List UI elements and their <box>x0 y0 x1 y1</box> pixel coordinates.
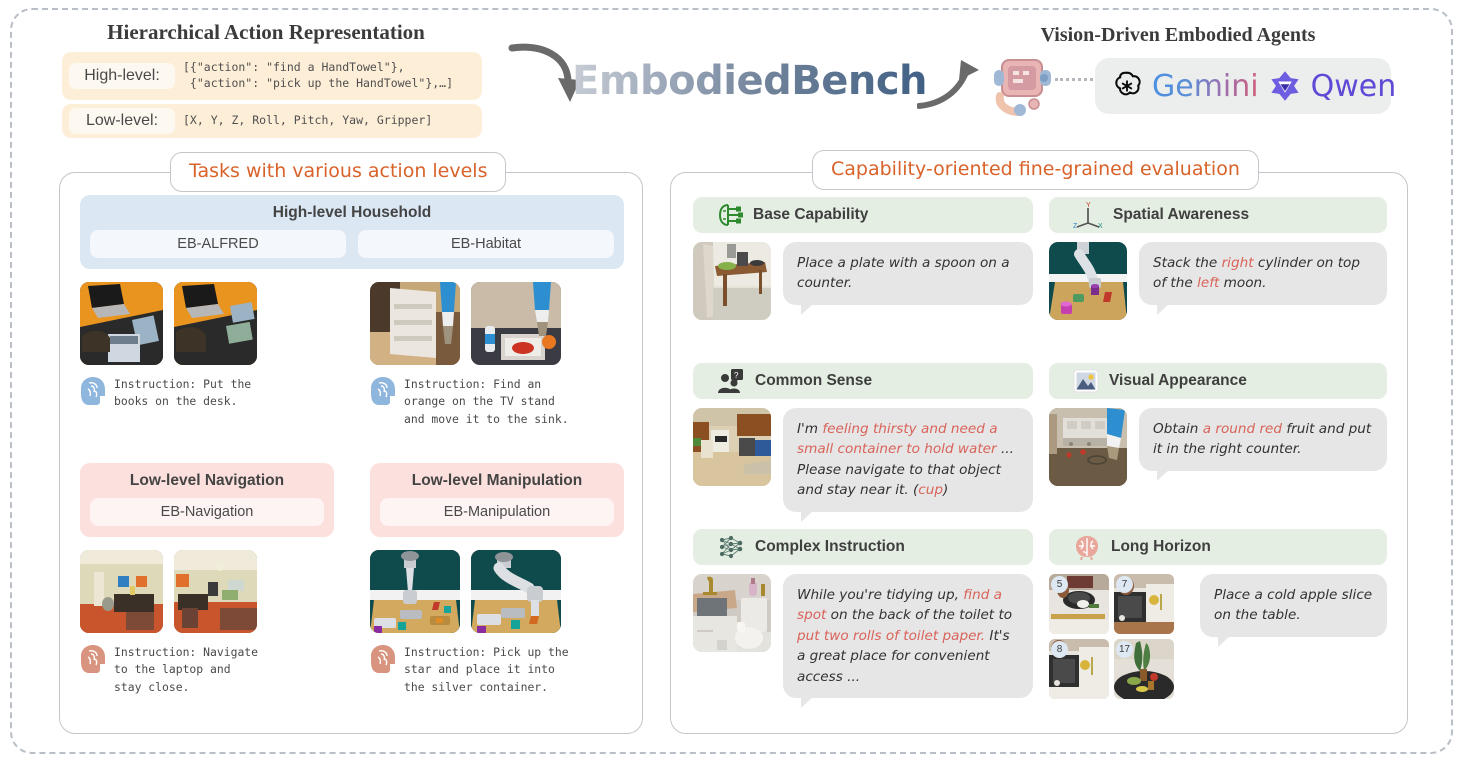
example-eb-manipulation: Low-level Manipulation EB-Manipulation <box>370 463 624 696</box>
neural-net-icon <box>717 534 745 560</box>
habitat-frame-2 <box>471 282 561 365</box>
spatial-awareness-label: Spatial Awareness <box>1113 206 1249 224</box>
qwen-logo-icon <box>1268 69 1302 103</box>
common-sense-bubble: I'm feeling thirsty and need a small con… <box>783 408 1033 512</box>
low-level-code: [X, Y, Z, Roll, Pitch, Yaw, Gripper] <box>183 113 432 129</box>
top-banner: Hierarchical Action Representation High-… <box>12 10 1451 138</box>
long-horizon-frame: 17 <box>1114 639 1174 699</box>
navigation-chip-row: EB-Navigation <box>90 498 324 526</box>
long-horizon-body: 5 <box>1049 574 1387 699</box>
long-horizon-frames: 5 <box>1049 574 1174 699</box>
low-level-action-box: Low-level: [X, Y, Z, Roll, Pitch, Yaw, G… <box>62 104 482 138</box>
complex-instruction-label: Complex Instruction <box>755 538 905 556</box>
habitat-thumbnails <box>370 282 624 365</box>
brain-icon <box>1073 534 1101 560</box>
spatial-awareness-header: Y Z X Spatial Awareness <box>1049 197 1387 233</box>
picture-icon <box>1073 368 1099 394</box>
manipulation-instruction-text: Instruction: Pick up the star and place … <box>404 644 569 696</box>
svg-text:Y: Y <box>1086 202 1091 209</box>
high-level-benchmark-chips: EB-ALFRED EB-Habitat <box>90 230 614 258</box>
bubble-text: Place a plate with a spoon on a counter. <box>797 255 1010 291</box>
example-eb-navigation: Low-level Navigation EB-Navigation <box>80 463 334 696</box>
brain-head-icon-red <box>370 644 396 674</box>
base-capability-bubble: Place a plate with a spoon on a counter. <box>783 242 1033 305</box>
gemini-logo-label: Gemini <box>1152 69 1259 104</box>
example-eb-alfred: Instruction: Put the books on the desk. <box>80 269 334 428</box>
base-capability-body: Place a plate with a spoon on a counter. <box>693 242 1033 320</box>
high-level-action-box: High-level: [{"action": "find a HandTowe… <box>62 52 482 100</box>
chip-eb-manipulation[interactable]: EB-Manipulation <box>380 498 614 526</box>
chip-eb-habitat[interactable]: EB-Habitat <box>358 230 614 258</box>
left-panel-tag: Tasks with various action levels <box>170 152 506 192</box>
navigation-thumbnails <box>80 550 334 633</box>
visual-appearance-header: Visual Appearance <box>1049 363 1387 399</box>
habitat-instruction-row: Instruction: Find an orange on the TV st… <box>370 376 624 428</box>
spatial-awareness-bubble: Stack the right cylinder on top of the l… <box>1139 242 1387 305</box>
xyz-axes-icon: Y Z X <box>1073 201 1103 229</box>
manipulation-thumbnails <box>370 550 624 633</box>
qwen-logo-label: Qwen <box>1311 69 1397 104</box>
low-level-manipulation-band: Low-level Manipulation EB-Manipulation <box>370 463 624 537</box>
manipulation-frame-1 <box>370 550 460 633</box>
high-level-examples: Instruction: Put the books on the desk. <box>80 269 624 428</box>
long-horizon-label: Long Horizon <box>1111 538 1211 556</box>
base-capability-image <box>693 242 771 320</box>
alfred-frame-2 <box>174 282 257 365</box>
navigation-instruction-text: Instruction: Navigate to the laptop and … <box>114 644 258 696</box>
long-horizon-frame: 7 <box>1114 574 1174 634</box>
long-horizon-frame: 8 <box>1049 639 1109 699</box>
figure-canvas: Hierarchical Action Representation High-… <box>10 8 1453 754</box>
habitat-frame-1 <box>370 282 460 365</box>
high-level-household-group: High-level Household EB-ALFRED EB-Habita… <box>80 195 624 428</box>
openai-logo-icon <box>1111 70 1143 102</box>
people-question-icon: ? <box>717 368 745 394</box>
common-sense-header: ? Common Sense <box>693 363 1033 399</box>
bubble-text: I'm feeling thirsty and need a small con… <box>797 421 1014 498</box>
capability-visual-appearance: Visual Appearance <box>1049 363 1387 486</box>
manipulation-frame-2 <box>471 550 561 633</box>
connector-dotted-line <box>1055 78 1099 81</box>
brain-head-icon-red <box>80 644 106 674</box>
bubble-text: Place a cold apple slice on the table. <box>1214 587 1372 623</box>
svg-text:?: ? <box>734 371 739 380</box>
tasks-panel: High-level Household EB-ALFRED EB-Habita… <box>59 172 643 734</box>
capability-spatial-awareness: Y Z X Spatial Awareness <box>1049 197 1387 320</box>
navigation-frame-1 <box>80 550 163 633</box>
navigation-instruction-row: Instruction: Navigate to the laptop and … <box>80 644 334 696</box>
capability-base-capability: Base Capability <box>693 197 1033 320</box>
base-capability-header: Base Capability <box>693 197 1033 233</box>
low-level-manipulation-title: Low-level Manipulation <box>380 472 614 490</box>
low-level-navigation-title: Low-level Navigation <box>90 472 324 490</box>
low-level-navigation-band: Low-level Navigation EB-Navigation <box>80 463 334 537</box>
svg-text:Z: Z <box>1073 223 1078 229</box>
visual-appearance-body: Obtain a round red fruit and put it in t… <box>1049 408 1387 486</box>
chip-eb-navigation[interactable]: EB-Navigation <box>90 498 324 526</box>
high-level-household-band: High-level Household EB-ALFRED EB-Habita… <box>80 195 624 269</box>
alfred-instruction-row: Instruction: Put the books on the desk. <box>80 376 334 411</box>
capability-complex-instruction: Complex Instruction <box>693 529 1033 698</box>
complex-instruction-image <box>693 574 771 652</box>
low-level-groups: Low-level Navigation EB-Navigation <box>80 463 624 696</box>
habitat-instruction-text: Instruction: Find an orange on the TV st… <box>404 376 569 428</box>
visual-appearance-bubble: Obtain a round red fruit and put it in t… <box>1139 408 1387 471</box>
arrow-into-benchmark-icon <box>508 40 580 110</box>
long-horizon-header: Long Horizon <box>1049 529 1387 565</box>
visual-appearance-image <box>1049 408 1127 486</box>
spatial-awareness-body: Stack the right cylinder on top of the l… <box>1049 242 1387 320</box>
visual-appearance-label: Visual Appearance <box>1109 372 1247 390</box>
spatial-awareness-image <box>1049 242 1127 320</box>
brain-head-icon-blue <box>80 376 106 406</box>
manipulation-chip-row: EB-Manipulation <box>380 498 614 526</box>
chip-eb-alfred[interactable]: EB-ALFRED <box>90 230 346 258</box>
frame-number: 5 <box>1051 576 1068 593</box>
embodiedbench-logo: EmbodiedBench <box>572 58 927 104</box>
bubble-text: While you're tidying up, find a spot on … <box>797 587 1012 685</box>
common-sense-image <box>693 408 771 486</box>
long-horizon-bubble: Place a cold apple slice on the table. <box>1200 574 1387 637</box>
frame-number: 7 <box>1116 576 1133 593</box>
alfred-thumbnails <box>80 282 334 365</box>
alfred-instruction-text: Instruction: Put the books on the desk. <box>114 376 251 411</box>
high-level-household-title: High-level Household <box>90 204 614 222</box>
frame-number: 8 <box>1051 641 1068 658</box>
capability-common-sense: ? Common Sense <box>693 363 1033 512</box>
alfred-frame-1 <box>80 282 163 365</box>
arrow-to-agents-icon <box>917 58 983 110</box>
base-capability-label: Base Capability <box>753 206 868 224</box>
frame-number: 17 <box>1116 641 1133 658</box>
low-level-label: Low-level: <box>69 108 175 134</box>
capability-panel: Base Capability <box>670 172 1408 734</box>
high-level-code: [{"action": "find a HandTowel"}, {"actio… <box>183 60 453 91</box>
complex-instruction-body: While you're tidying up, find a spot on … <box>693 574 1033 698</box>
brain-head-icon-blue <box>370 376 396 406</box>
high-level-label: High-level: <box>69 63 175 89</box>
common-sense-body: I'm feeling thirsty and need a small con… <box>693 408 1033 512</box>
capability-long-horizon: Long Horizon 5 <box>1049 529 1387 699</box>
hierarchical-action-title: Hierarchical Action Representation <box>40 20 492 45</box>
example-eb-habitat: Instruction: Find an orange on the TV st… <box>370 269 624 428</box>
common-sense-label: Common Sense <box>755 372 872 390</box>
manipulation-instruction-row: Instruction: Pick up the star and place … <box>370 644 624 696</box>
bubble-text: Stack the right cylinder on top of the l… <box>1153 255 1360 291</box>
complex-instruction-bubble: While you're tidying up, find a spot on … <box>783 574 1033 698</box>
right-panel-tag: Capability-oriented fine-grained evaluat… <box>812 150 1259 190</box>
complex-instruction-header: Complex Instruction <box>693 529 1033 565</box>
vision-driven-agents-title: Vision-Driven Embodied Agents <box>968 24 1388 47</box>
bubble-text: Obtain a round red fruit and put it in t… <box>1153 421 1371 457</box>
svg-text:X: X <box>1098 223 1103 229</box>
long-horizon-frame: 5 <box>1049 574 1109 634</box>
navigation-frame-2 <box>174 550 257 633</box>
robot-mascot-icon <box>986 54 1058 116</box>
circuit-brain-icon <box>717 202 743 228</box>
model-logos-pill: Gemini Qwen <box>1095 58 1391 114</box>
